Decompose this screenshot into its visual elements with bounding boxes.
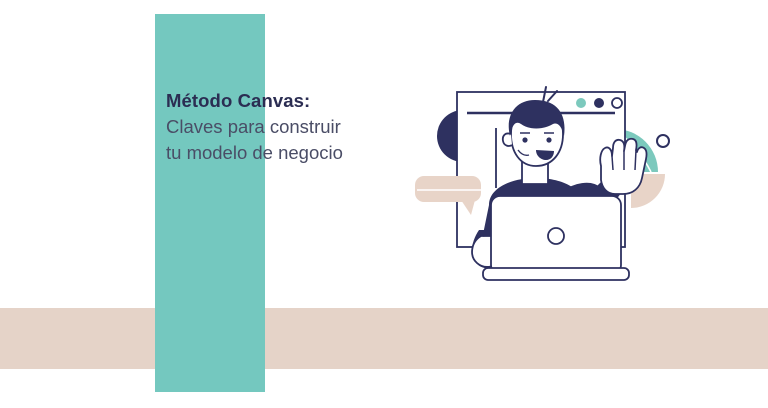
text-block: Método Canvas: Claves para construir tu … xyxy=(166,88,426,166)
person-eye-right xyxy=(546,137,551,142)
waving-hand-shape xyxy=(600,139,646,194)
laptop-shape xyxy=(483,196,629,280)
person-eye-left xyxy=(522,137,527,142)
teal-column xyxy=(155,14,265,392)
person-waving-at-laptop-illustration xyxy=(415,70,680,282)
beige-band xyxy=(0,308,768,369)
headline: Método Canvas: xyxy=(166,88,426,114)
subline-2: tu modelo de negocio xyxy=(166,140,426,166)
banner-canvas: Método Canvas: Claves para construir tu … xyxy=(0,0,768,408)
browser-dot-outline xyxy=(612,98,622,108)
person-ear xyxy=(503,133,512,145)
browser-dot-navy xyxy=(594,98,604,108)
subline-1: Claves para construir xyxy=(166,114,426,140)
browser-dot-teal xyxy=(576,98,586,108)
small-navy-ring-shape xyxy=(657,135,669,147)
